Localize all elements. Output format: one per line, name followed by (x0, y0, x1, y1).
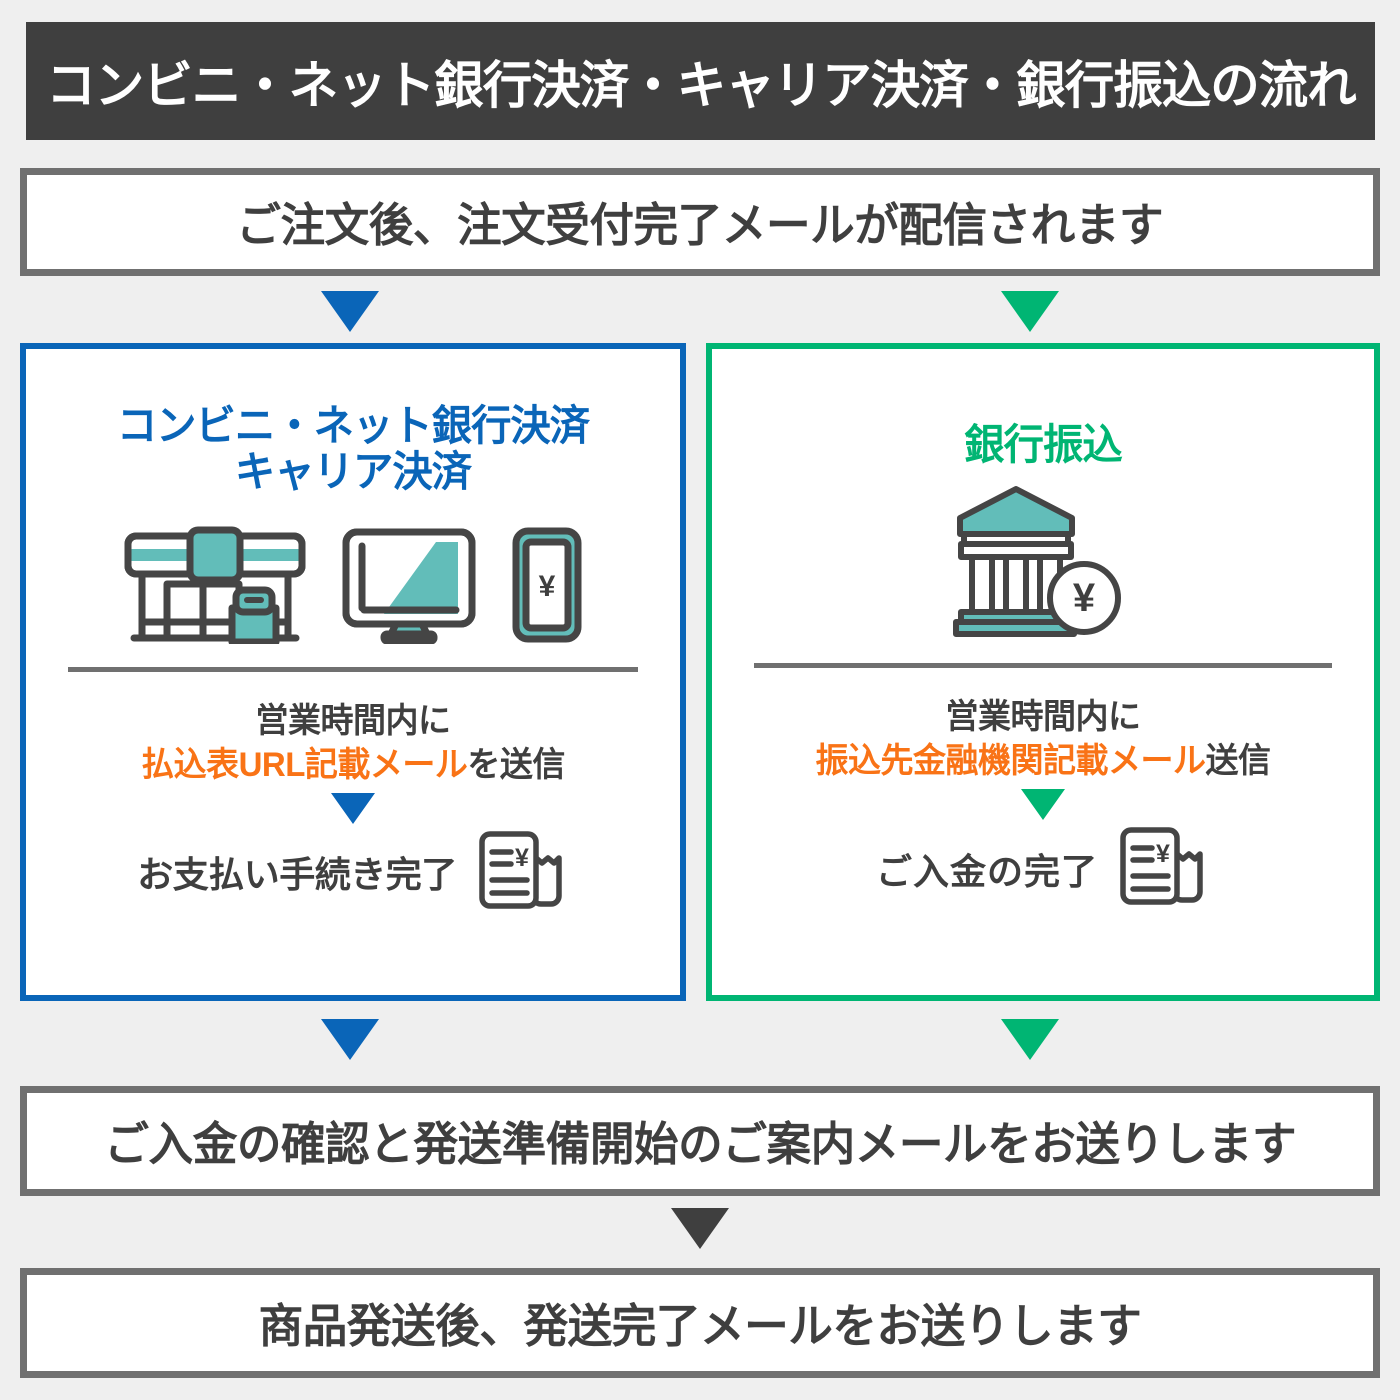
bank-final-row: ご入金の完了 ¥ (732, 824, 1354, 913)
bank-icon-row: ¥ (732, 490, 1354, 645)
conveni-note-line1: 営業時間内に (55, 699, 651, 743)
panel-bank-heading: 銀行振込 (744, 422, 1341, 468)
panel-bank-heading-line1: 銀行振込 (744, 422, 1341, 468)
smartphone-yen-icon: ¥ (508, 526, 586, 649)
conveni-note-highlight: 払込表URL記載メール (141, 746, 467, 784)
panel-conveni-payment: コンビニ・ネット銀行決済 キャリア決済 (20, 343, 686, 1001)
conveni-note: 営業時間内に 払込表URL記載メールを送信 (55, 699, 651, 787)
arrow-down-from-bank-icon (1001, 1019, 1059, 1060)
bank-divider (754, 663, 1332, 668)
page-title: コンビニ・ネット銀行決済・キャリア決済・銀行振込の流れ (46, 44, 1356, 118)
svg-text:¥: ¥ (1073, 576, 1096, 620)
bank-note-line1: 営業時間内に (741, 695, 1344, 739)
step-payment-confirmed-label: ご入金の確認と発送準備開始のご案内メールをお送りします (104, 1108, 1296, 1174)
svg-text:¥: ¥ (539, 570, 556, 603)
step-shipping-complete-label: 商品発送後、発送完了メールをお送りします (259, 1290, 1142, 1356)
arrow-down-conveni-final-icon (331, 793, 375, 824)
arrow-down-to-shipped-icon (671, 1208, 729, 1249)
convenience-store-icon (120, 526, 310, 649)
panel-bank-transfer: 銀行振込 (706, 343, 1380, 1001)
conveni-final-row: お支払い手続き完了 ¥ (46, 828, 660, 917)
arrow-down-from-conveni-icon (321, 1019, 379, 1060)
bank-note-suffix: 送信 (1205, 742, 1270, 780)
receipt-yen-icon: ¥ (1114, 824, 1210, 913)
panel-conveni-heading: コンビニ・ネット銀行決済 キャリア決済 (58, 403, 647, 495)
conveni-divider (68, 667, 638, 672)
arrow-down-bank-final-icon (1021, 789, 1065, 820)
bank-note-line2: 振込先金融機関記載メール送信 (741, 739, 1344, 783)
svg-text:¥: ¥ (1156, 840, 1170, 868)
bank-final-label: ご入金の完了 (876, 843, 1098, 895)
bank-building-yen-icon: ¥ (948, 485, 1138, 645)
arrow-down-to-conveni-icon (321, 291, 379, 332)
conveni-note-suffix: を送信 (467, 746, 564, 784)
conveni-final-label: お支払い手続き完了 (137, 846, 457, 898)
step-shipping-complete: 商品発送後、発送完了メールをお送りします (20, 1268, 1380, 1378)
step-order-received: ご注文後、注文受付完了メールが配信されます (20, 168, 1380, 276)
svg-text:¥: ¥ (515, 844, 529, 872)
arrow-down-to-bank-icon (1001, 291, 1059, 332)
bank-note-highlight: 振込先金融機関記載メール (816, 742, 1206, 780)
step-payment-confirmed: ご入金の確認と発送準備開始のご案内メールをお送りします (20, 1086, 1380, 1196)
diagram-title-bar: コンビニ・ネット銀行決済・キャリア決済・銀行振込の流れ (26, 22, 1375, 140)
conveni-note-line2: 払込表URL記載メールを送信 (55, 743, 651, 787)
monitor-icon (340, 526, 478, 649)
payment-flow-diagram: コンビニ・ネット銀行決済・キャリア決済・銀行振込の流れ ご注文後、注文受付完了メ… (0, 0, 1400, 1400)
receipt-yen-icon: ¥ (473, 828, 569, 917)
panel-conveni-heading-line2: キャリア決済 (58, 449, 647, 495)
bank-note: 営業時間内に 振込先金融機関記載メール送信 (741, 695, 1344, 783)
step-order-received-label: ご注文後、注文受付完了メールが配信されます (237, 189, 1164, 255)
conveni-icon-row: ¥ (46, 531, 660, 649)
panel-conveni-heading-line1: コンビニ・ネット銀行決済 (58, 403, 647, 449)
